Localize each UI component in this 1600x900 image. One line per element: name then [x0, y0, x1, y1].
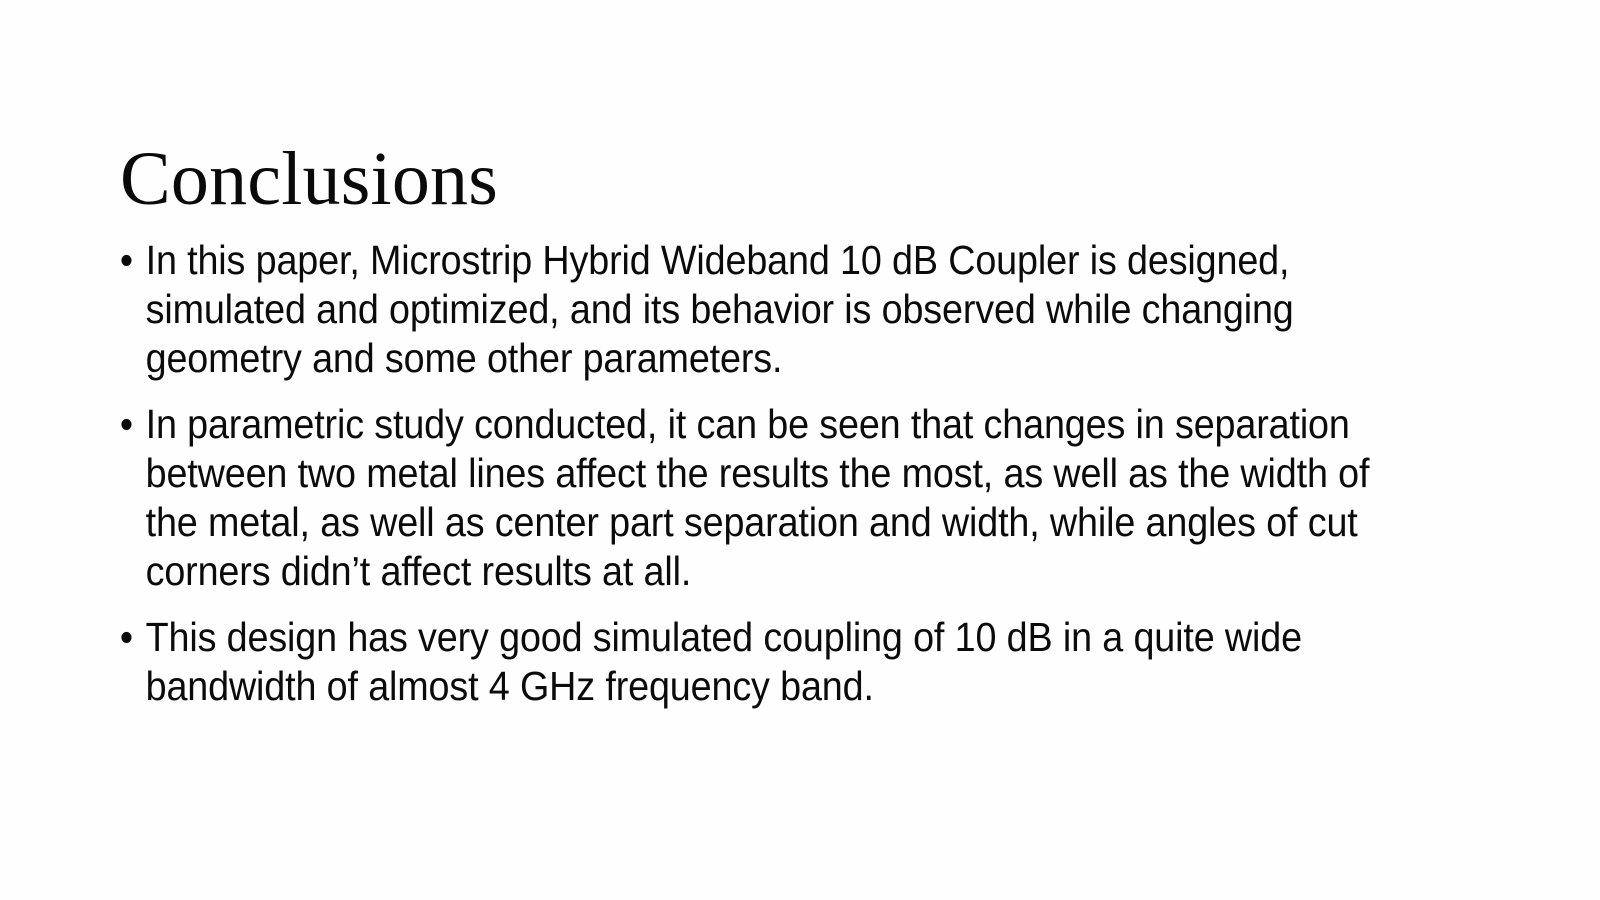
list-item-text: This design has very good simulated coup…: [146, 613, 1379, 711]
list-item: • In this paper, Microstrip Hybrid Wideb…: [118, 236, 1378, 383]
list-item: • In parametric study conducted, it can …: [118, 400, 1378, 596]
bullet-point-icon: •: [120, 236, 142, 285]
page-title: Conclusions: [120, 135, 1500, 223]
bullet-point-icon: •: [120, 400, 142, 449]
presentation-slide: Conclusions • In this paper, Microstrip …: [0, 0, 1600, 900]
list-item: • This design has very good simulated co…: [118, 613, 1378, 711]
list-item-text: In parametric study conducted, it can be…: [146, 400, 1379, 596]
bullet-point-icon: •: [120, 613, 142, 662]
list-item-text: In this paper, Microstrip Hybrid Wideban…: [146, 236, 1379, 383]
bullet-list: • In this paper, Microstrip Hybrid Wideb…: [118, 236, 1488, 711]
